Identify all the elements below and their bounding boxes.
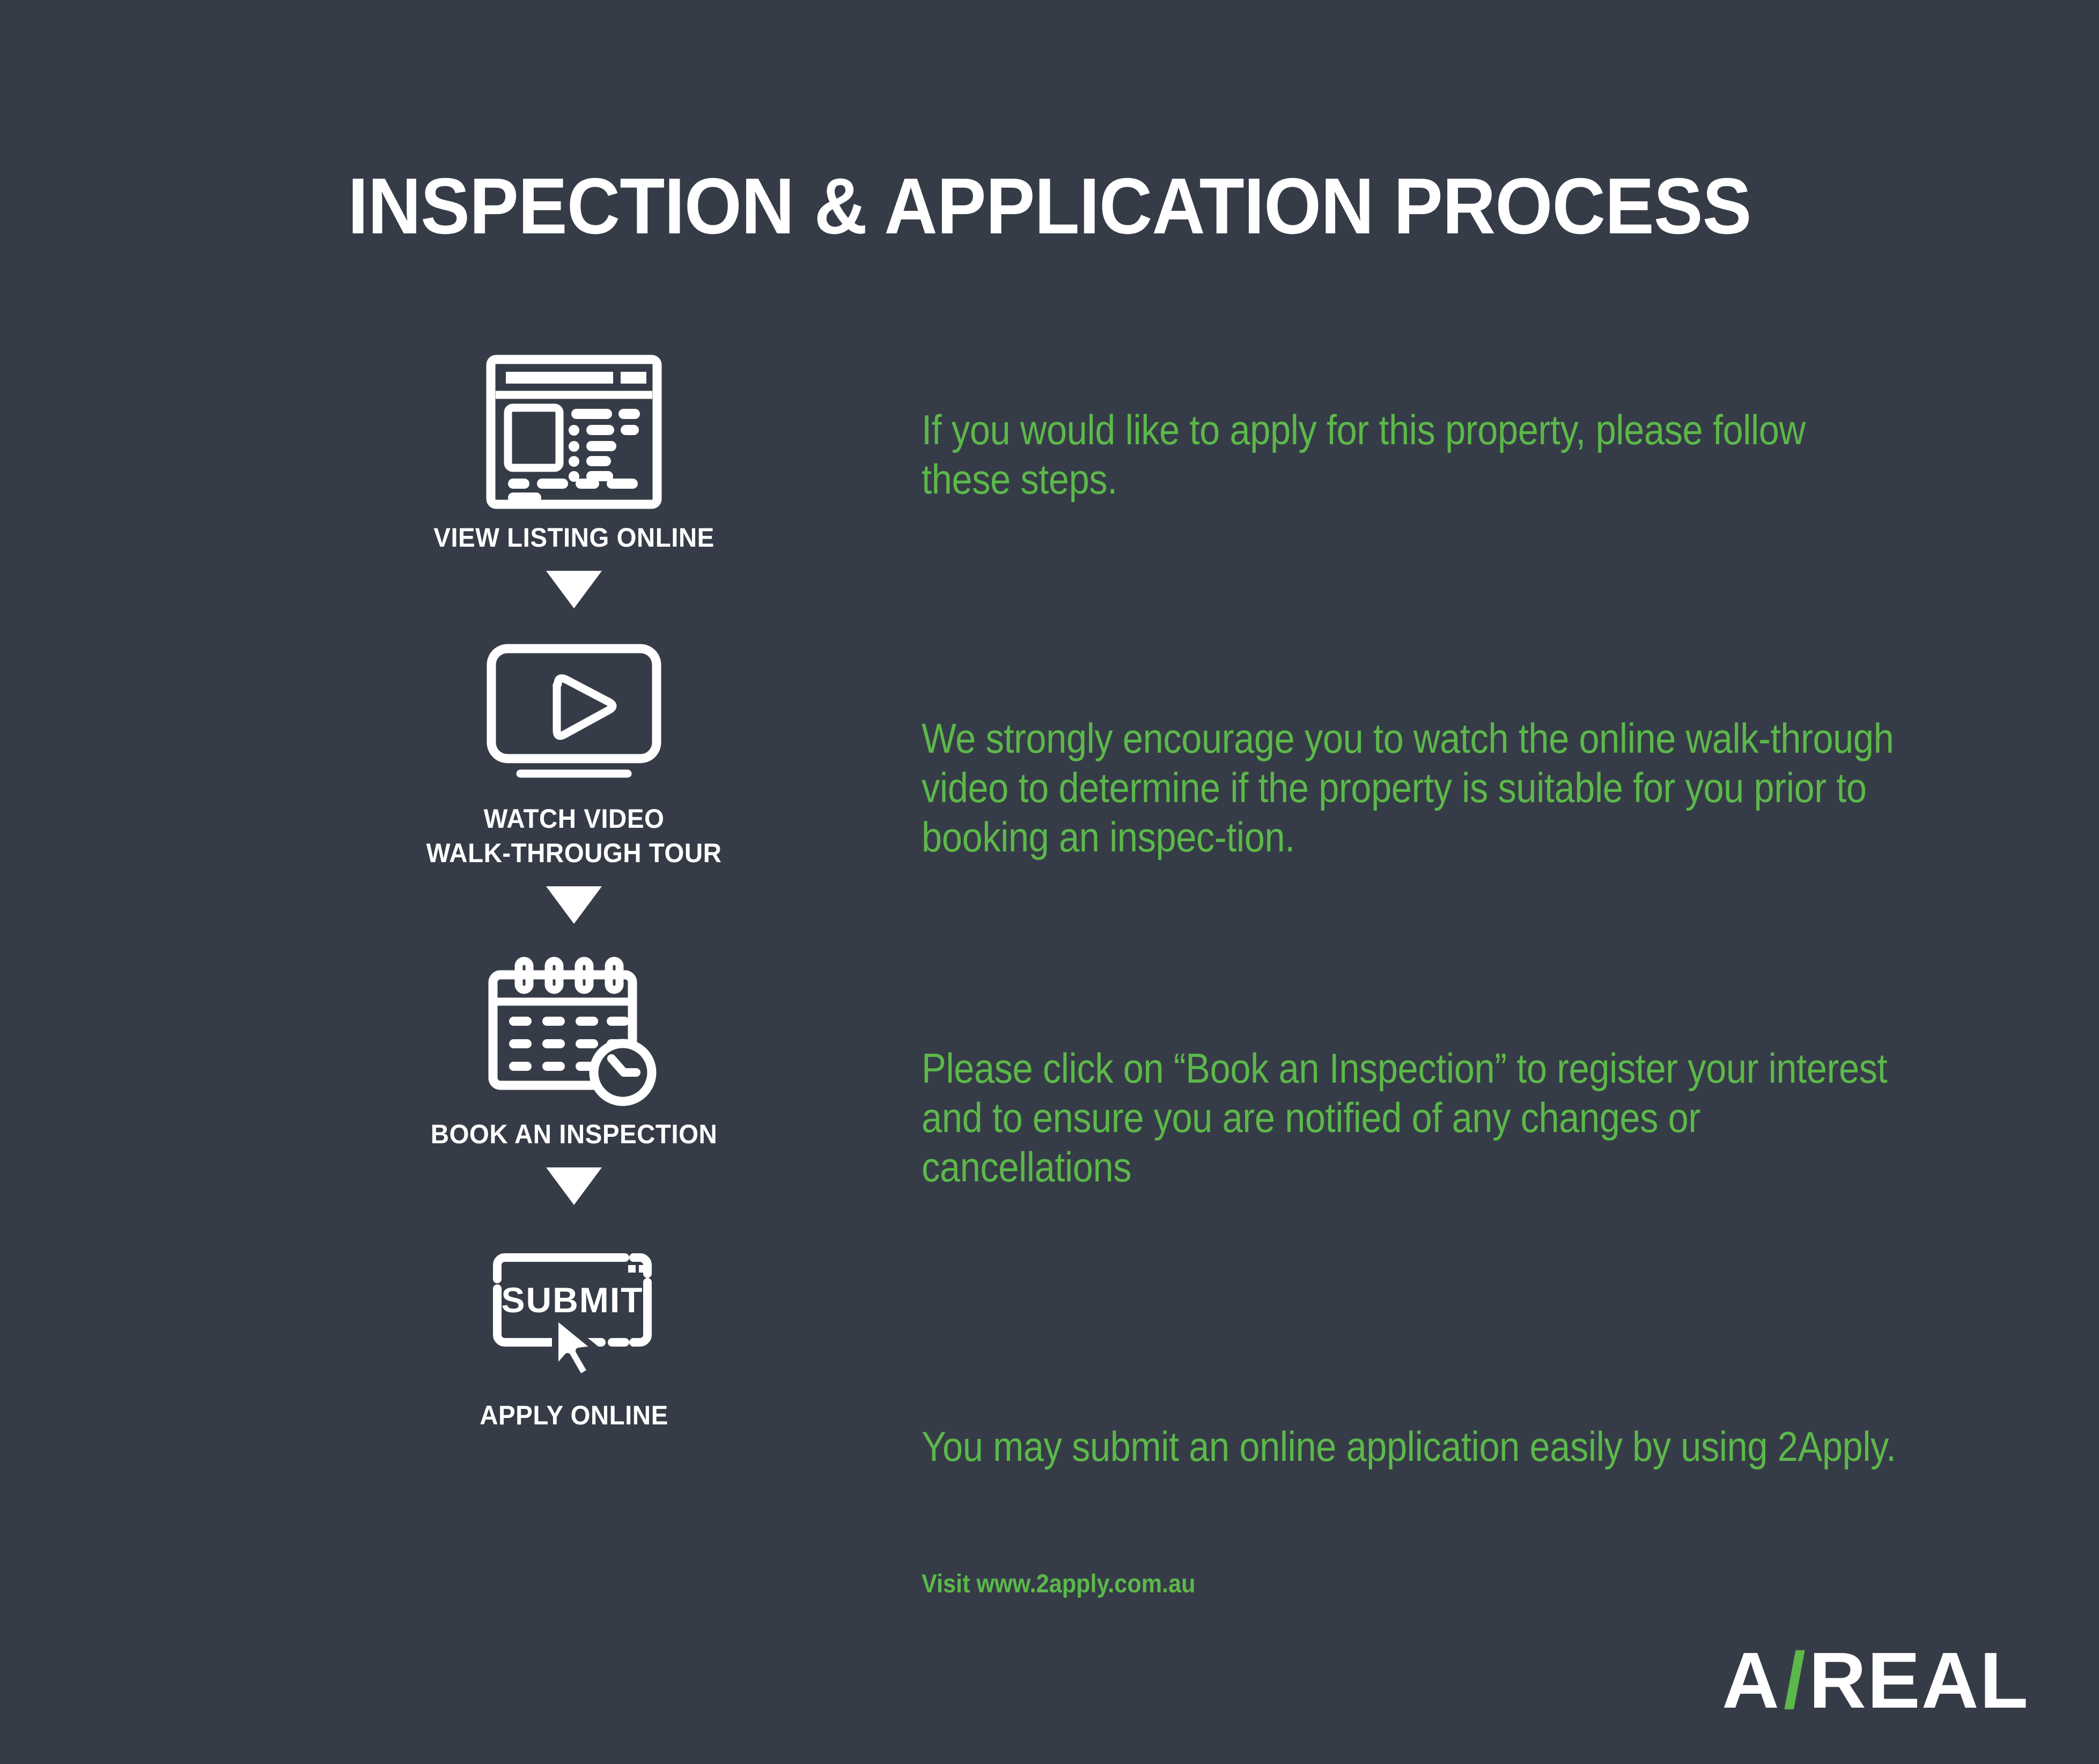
submit-icon-text: SUBMIT — [502, 1280, 644, 1320]
step-label: BOOK AN INSPECTION — [380, 1117, 768, 1151]
down-triangle-arrow-icon — [370, 1151, 778, 1221]
step-flow-column: VIEW LISTING ONLINE WATCH VIDEO WALK- — [370, 343, 778, 1432]
step-label: VIEW LISTING ONLINE — [380, 520, 768, 555]
logo-slash-icon: / — [1780, 1641, 1809, 1721]
step-label-line1: APPLY ONLINE — [380, 1398, 768, 1432]
step-label: WATCH VIDEO WALK-THROUGH TOUR — [380, 802, 768, 870]
step-label-line1: VIEW LISTING ONLINE — [380, 520, 768, 555]
browser-listing-icon — [370, 343, 778, 520]
calendar-clock-icon — [370, 940, 778, 1117]
logo-part-a: A — [1722, 1641, 1780, 1721]
infographic-poster: INSPECTION & APPLICATION PROCESS — [0, 0, 2099, 1764]
instruction-text-watch-video: We strongly encourage you to watch the o… — [922, 714, 1913, 862]
page-title: INSPECTION & APPLICATION PROCESS — [73, 161, 2026, 252]
step-label-line2: WALK-THROUGH TOUR — [380, 836, 768, 870]
video-play-monitor-icon — [370, 624, 778, 802]
step-apply-online: SUBMIT APPLY ONLINE — [370, 1221, 778, 1432]
down-triangle-arrow-icon — [370, 870, 778, 940]
step-label: APPLY ONLINE — [380, 1398, 768, 1432]
instruction-text-apply-online: You may submit an online application eas… — [922, 1422, 1903, 1471]
step-view-listing-online: VIEW LISTING ONLINE — [370, 343, 778, 555]
areal-logo: A / REAL — [1722, 1641, 2029, 1721]
step-label-line1: WATCH VIDEO — [380, 802, 768, 836]
step-watch-video-walkthrough: WATCH VIDEO WALK-THROUGH TOUR — [370, 624, 778, 870]
content-area: VIEW LISTING ONLINE WATCH VIDEO WALK- — [0, 343, 2099, 1631]
logo-part-real: REAL — [1809, 1641, 2029, 1721]
step-label-line1: BOOK AN INSPECTION — [380, 1117, 768, 1151]
submit-button-cursor-icon: SUBMIT — [370, 1221, 778, 1398]
instruction-text-book-inspection: Please click on “Book an Inspection” to … — [922, 1043, 1903, 1192]
visit-2apply-link[interactable]: Visit www.2apply.com.au — [922, 1569, 1196, 1599]
instruction-text-view-listing: If you would like to apply for this prop… — [922, 405, 1903, 504]
down-triangle-arrow-icon — [370, 555, 778, 624]
step-book-an-inspection: BOOK AN INSPECTION — [370, 940, 778, 1151]
